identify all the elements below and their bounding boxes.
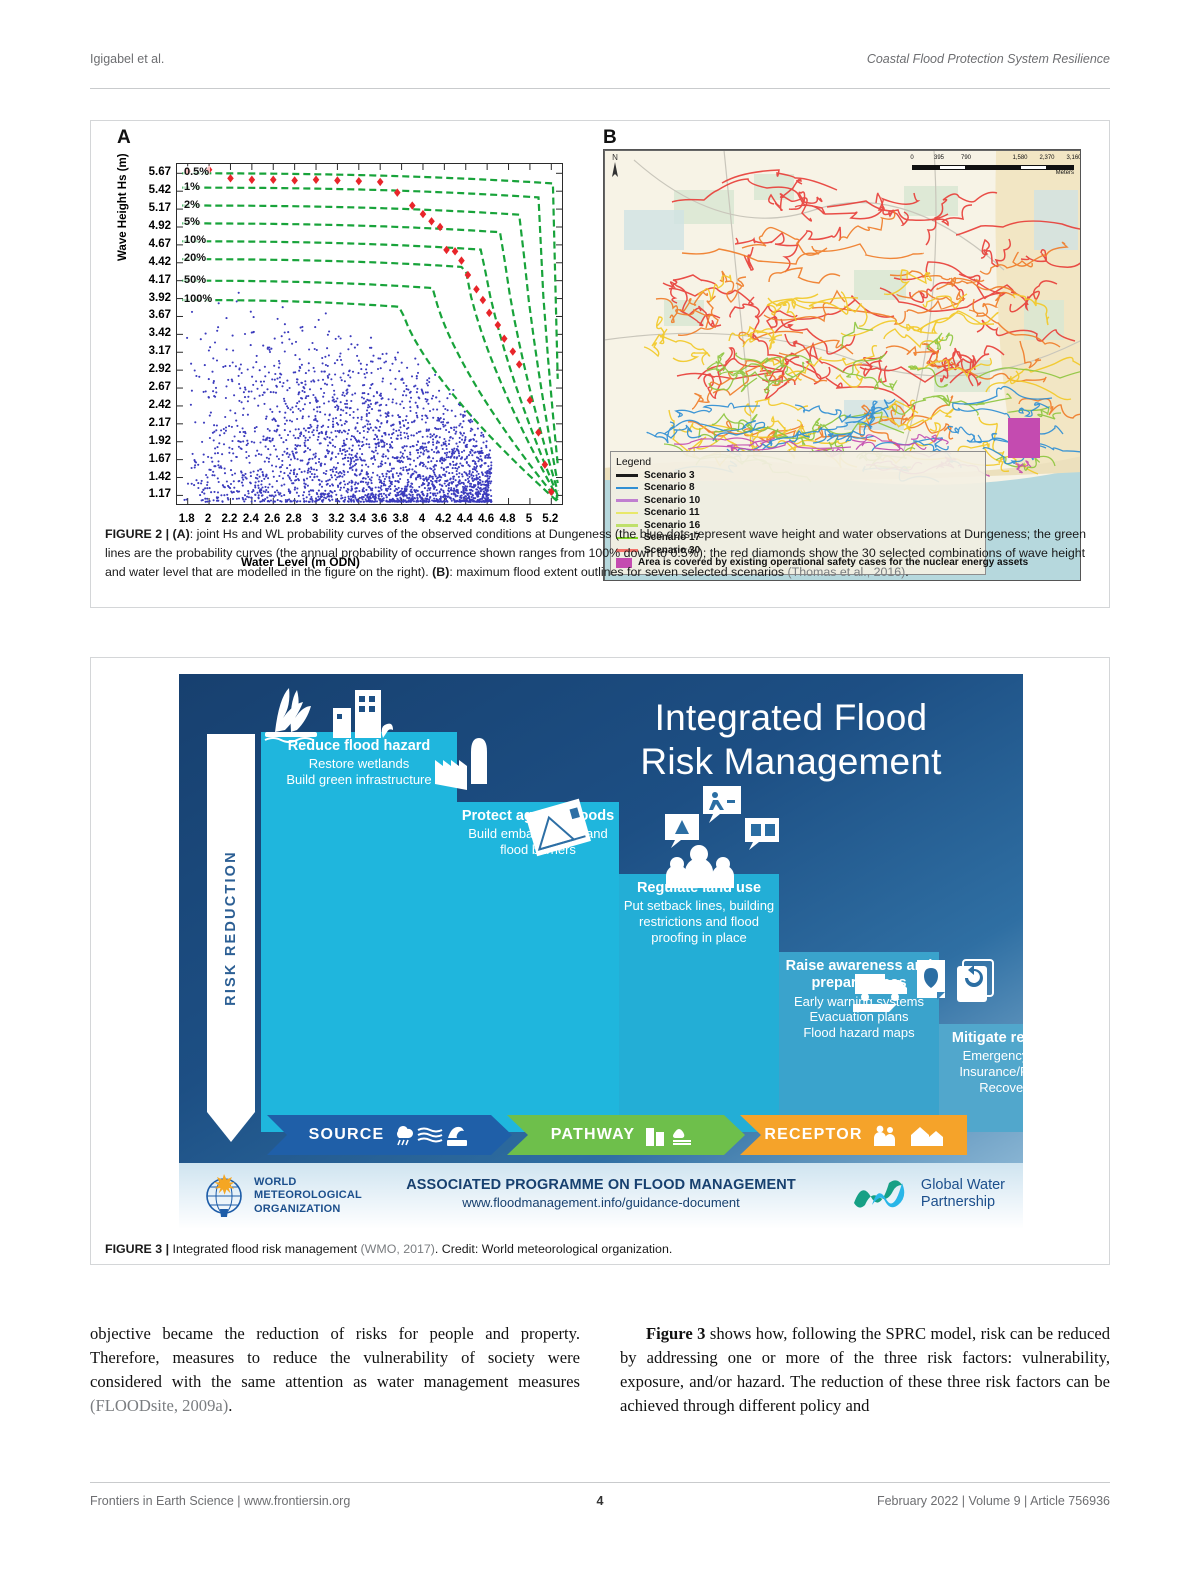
curve-label-50%: 50% [183, 274, 207, 286]
programme-block: ASSOCIATED PROGRAMME ON FLOOD MANAGEMENT… [406, 1177, 796, 1210]
footer-divider [90, 1482, 1110, 1483]
step-0-detail-0: Restore wetlands [265, 756, 453, 772]
figure-3-frame: Integrated Flood Risk Management RISK RE… [90, 657, 1110, 1265]
figure-2-caption-a-tag: (A) [173, 527, 190, 541]
footer-page-number: 4 [597, 1494, 604, 1508]
chart-x-tick-7: 3.2 [328, 513, 344, 525]
chart-x-tick-11: 4 [419, 513, 425, 525]
chart-x-tick-0: 1.8 [179, 513, 195, 525]
running-head-title: Coastal Flood Protection System Resilien… [867, 52, 1110, 66]
legend-entry-2: Scenario 10 [616, 494, 980, 507]
header-divider [90, 88, 1110, 89]
legend-swatch-3 [616, 512, 638, 515]
sprc-pathway[interactable]: PATHWAY [507, 1115, 745, 1155]
chart-x-tick-6: 3 [312, 513, 318, 525]
scale-bar-units: Meters [1056, 170, 1074, 176]
step-3-heading: Raise awareness and preparedness [781, 958, 937, 993]
north-label: N [610, 154, 620, 162]
arrow-head-icon [207, 1112, 255, 1142]
wmo-line-0: WORLD [254, 1176, 362, 1189]
scale-value-2: 790 [961, 155, 971, 161]
organisation-bar: WORLD METEOROLOGICAL ORGANIZATION ASSOCI… [179, 1163, 1023, 1229]
chart-x-tick-8: 3.4 [350, 513, 366, 525]
infographic-title: Integrated Flood Risk Management [581, 696, 1001, 783]
gwp-logo-icon [852, 1175, 914, 1213]
step-1-heading: Protect against floods [459, 808, 617, 825]
legend-entry-0: Scenario 3 [616, 469, 980, 482]
risk-reduction-arrow: RISK REDUCTION [201, 720, 261, 1140]
figure-2-caption-label: FIGURE 2 | [105, 527, 169, 541]
step-0-heading: Reduce flood hazard [265, 738, 453, 755]
chart-y-axis-label: Wave Height Hs (m) [117, 153, 129, 261]
legend-label-2: Scenario 10 [644, 495, 700, 506]
figure-3-caption-end: . Credit: World meteorological organizat… [435, 1242, 672, 1256]
figure-2-caption-b-tag: (B) [432, 565, 449, 579]
joint-probability-chart: Wave Height Hs (m) Water Level (m ODN) 0… [121, 151, 581, 581]
running-head: Igigabel et al. Coastal Flood Protection… [90, 52, 1110, 80]
chart-x-tick-4: 2.6 [264, 513, 280, 525]
chart-y-tick-2: 5.17 [149, 202, 171, 214]
sprc-bar: SOURCE PATHWAY [267, 1115, 967, 1155]
chart-y-tick-0: 5.67 [149, 166, 171, 178]
sprc-receptor-label: RECEPTOR [764, 1126, 862, 1144]
programme-name: ASSOCIATED PROGRAMME ON FLOOD MANAGEMENT [406, 1177, 796, 1193]
step-3-detail-1: Evacuation plans [781, 1009, 937, 1025]
chart-y-tick-18: 1.17 [149, 488, 171, 500]
step-3-text: Raise awareness and preparedness Early w… [781, 958, 937, 1041]
chart-y-tick-5: 4.42 [149, 256, 171, 268]
chart-x-tick-16: 5 [526, 513, 532, 525]
step-regulate-land-use: Regulate land use Put setback lines, bui… [619, 874, 779, 1132]
chart-y-tick-16: 1.67 [149, 453, 171, 465]
sprc-source[interactable]: SOURCE [267, 1115, 512, 1155]
step-4-text: Mitigate residual risk Emergency respons… [941, 1030, 1023, 1095]
wmo-block: WORLD METEOROLOGICAL ORGANIZATION [201, 1173, 362, 1219]
legend-label-0: Scenario 3 [644, 470, 695, 481]
running-head-authors: Igigabel et al. [90, 52, 164, 66]
body-left-citation[interactable]: (FLOODsite, 2009a) [90, 1396, 228, 1415]
infographic-title-line2: Risk Management [581, 740, 1001, 784]
scale-value-0: 0 [910, 155, 913, 161]
legend-title: Legend [616, 456, 980, 468]
scale-value-5: 3,160 [1066, 155, 1081, 161]
scale-value-1: 395 [934, 155, 944, 161]
flood-extent-map: N 03957901,5802,3703,160 Meters Legend S… [603, 149, 1081, 581]
chart-x-tick-9: 3.6 [371, 513, 387, 525]
step-0-detail-1: Build green infrastructure [265, 772, 453, 788]
chart-svg [177, 164, 562, 504]
chart-x-tick-12: 4.2 [435, 513, 451, 525]
scale-value-4: 2,370 [1039, 155, 1054, 161]
wmo-line-2: ORGANIZATION [254, 1203, 362, 1216]
legend-entry-1: Scenario 8 [616, 482, 980, 495]
step-2-detail-0: Put setback lines, building [621, 898, 777, 914]
figure-2-caption: FIGURE 2 | (A): joint Hs and WL probabil… [105, 525, 1095, 582]
curve-label-2%: 2% [183, 199, 201, 211]
chart-y-tick-11: 2.92 [149, 363, 171, 375]
chart-y-tick-10: 3.17 [149, 345, 171, 357]
chart-y-tick-7: 3.92 [149, 292, 171, 304]
curve-label-100%: 100% [183, 293, 213, 305]
step-4-detail-2: Recovery plans [941, 1080, 1023, 1096]
infographic-title-line1: Integrated Flood [581, 696, 1001, 740]
chart-x-tick-15: 4.8 [500, 513, 516, 525]
curve-label-20%: 20% [183, 252, 207, 264]
chart-y-tick-14: 2.17 [149, 417, 171, 429]
panel-label-a: A [117, 127, 131, 149]
north-arrow-icon: N [610, 154, 620, 180]
step-1-detail-1: flood barriers [459, 842, 617, 858]
sprc-pathway-label: PATHWAY [551, 1126, 636, 1144]
step-4-detail-1: Insurance/Relief funds [941, 1064, 1023, 1080]
step-reduce-flood-hazard: Reduce flood hazard Restore wetlands Bui… [261, 732, 457, 1132]
chart-plot-area: 0.5%1%2%5%10%20%50%100% [176, 163, 563, 505]
curve-label-1%: 1% [183, 181, 201, 193]
chart-y-tick-4: 4.67 [149, 238, 171, 250]
step-2-text: Regulate land use Put setback lines, bui… [621, 880, 777, 945]
figure-3-caption: FIGURE 3 | Integrated flood risk managem… [105, 1240, 1095, 1259]
legend-swatch-1 [616, 487, 638, 490]
step-1-detail-0: Build embankments and [459, 826, 617, 842]
infographic: Integrated Flood Risk Management RISK RE… [179, 674, 1023, 1229]
chart-y-tick-13: 2.42 [149, 399, 171, 411]
curve-label-10%: 10% [183, 234, 207, 246]
wmo-line-1: METEOROLOGICAL [254, 1189, 362, 1202]
sprc-source-label: SOURCE [309, 1126, 385, 1144]
receptor-icons [871, 1122, 943, 1148]
chart-y-tick-15: 1.92 [149, 435, 171, 447]
chart-y-tick-6: 4.17 [149, 274, 171, 286]
gwp-line-1: Partnership [921, 1194, 1005, 1211]
source-icons [392, 1122, 470, 1148]
body-right-figure-ref[interactable]: Figure 3 [646, 1324, 705, 1343]
figure-3-caption-text: Integrated flood risk management [169, 1242, 360, 1256]
legend-swatch-0 [616, 474, 638, 477]
chart-x-tick-14: 4.6 [478, 513, 494, 525]
risk-reduction-label: RISK REDUCTION [223, 768, 239, 1088]
step-protect-against-floods: Protect against floods Build embankments… [457, 802, 619, 1132]
chart-y-tick-8: 3.67 [149, 309, 171, 321]
scale-value-3: 1,580 [1012, 155, 1027, 161]
body-column-left: objective became the reduction of risks … [90, 1322, 580, 1418]
chart-x-tick-13: 4.4 [457, 513, 473, 525]
step-2-heading: Regulate land use [621, 880, 777, 897]
gwp-line-0: Global Water [921, 1177, 1005, 1194]
figure-3-caption-citation[interactable]: (WMO, 2017) [361, 1242, 435, 1256]
legend-entry-3: Scenario 11 [616, 507, 980, 520]
step-1-text: Protect against floods Build embankments… [459, 808, 617, 858]
step-4-heading: Mitigate residual risk [941, 1030, 1023, 1047]
page-footer: Frontiers in Earth Science | www.frontie… [90, 1494, 1110, 1514]
chart-y-tick-12: 2.67 [149, 381, 171, 393]
figure-2-caption-citation[interactable]: (Thomas et al., 2016) [788, 565, 906, 579]
chart-x-tick-2: 2.2 [221, 513, 237, 525]
chart-x-tick-3: 2.4 [243, 513, 259, 525]
chart-y-tick-3: 4.92 [149, 220, 171, 232]
panel-label-b: B [603, 127, 617, 149]
step-2-detail-1: restrictions and flood [621, 914, 777, 930]
footer-issue: February 2022 | Volume 9 | Article 75693… [877, 1494, 1110, 1508]
body-left-end: . [228, 1396, 232, 1415]
pathway-icons [643, 1122, 701, 1148]
chart-x-tick-17: 5.2 [542, 513, 558, 525]
step-4-detail-0: Emergency response [941, 1048, 1023, 1064]
gwp-block: Global Water Partnership [852, 1175, 1005, 1213]
body-left-text: objective became the reduction of risks … [90, 1324, 580, 1391]
legend-label-3: Scenario 11 [644, 507, 700, 518]
step-3-detail-0: Early warning systems [781, 994, 937, 1010]
chart-x-tick-10: 3.8 [393, 513, 409, 525]
figure-3-caption-label: FIGURE 3 | [105, 1242, 169, 1256]
step-0-text: Reduce flood hazard Restore wetlands Bui… [265, 738, 453, 788]
page: Igigabel et al. Coastal Flood Protection… [0, 0, 1200, 1571]
chart-y-tick-1: 5.42 [149, 184, 171, 196]
legend-label-1: Scenario 8 [644, 482, 695, 493]
body-column-right: Figure 3 shows how, following the SPRC m… [620, 1322, 1110, 1418]
figure-2-caption-part2: : maximum flood extent outlines for seve… [449, 565, 787, 579]
scale-bar-values: 03957901,5802,3703,160 [904, 155, 1074, 164]
wmo-name: WORLD METEOROLOGICAL ORGANIZATION [254, 1176, 362, 1216]
chart-x-tick-1: 2 [205, 513, 211, 525]
step-raise-awareness: Raise awareness and preparedness Early w… [779, 952, 939, 1132]
step-2-detail-2: proofing in place [621, 930, 777, 946]
gwp-name: Global Water Partnership [921, 1177, 1005, 1210]
chart-y-tick-17: 1.42 [149, 471, 171, 483]
chart-y-tick-9: 3.42 [149, 327, 171, 339]
programme-url[interactable]: www.floodmanagement.info/guidance-docume… [406, 1195, 796, 1210]
sprc-receptor[interactable]: RECEPTOR [740, 1115, 967, 1155]
chart-x-tick-5: 2.8 [286, 513, 302, 525]
curve-label-5%: 5% [183, 216, 201, 228]
footer-journal: Frontiers in Earth Science | www.frontie… [90, 1494, 350, 1508]
curve-label-0-5%: 0.5% [183, 166, 210, 178]
wmo-logo-icon [201, 1173, 247, 1219]
figure-2-caption-end: . [905, 565, 908, 579]
map-scale-bar: 03957901,5802,3703,160 Meters [904, 155, 1074, 177]
legend-swatch-2 [616, 499, 638, 502]
step-3-detail-2: Flood hazard maps [781, 1025, 937, 1041]
